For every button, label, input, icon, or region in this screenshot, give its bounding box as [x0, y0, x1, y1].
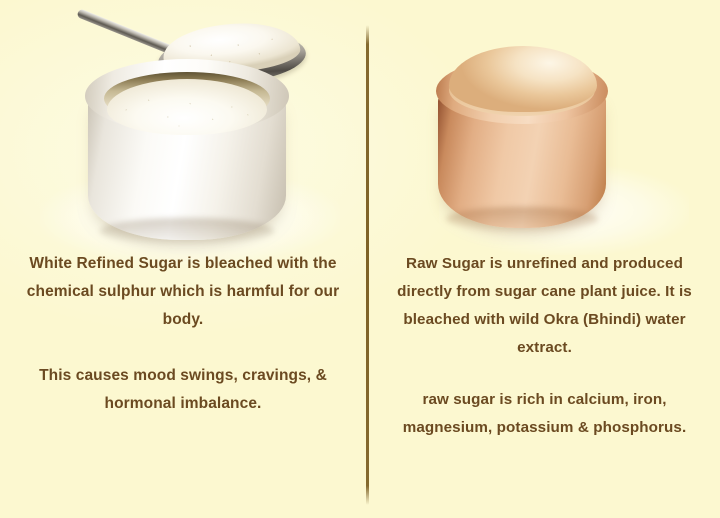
caption-paragraph: This causes mood swings, cravings, & hor…: [14, 362, 352, 418]
raw-sugar-bowl-photo: [369, 0, 720, 250]
panel-raw-sugar: Raw Sugar is unrefined and produced dire…: [369, 0, 720, 518]
raw-sugar-captions: Raw Sugar is unrefined and produced dire…: [369, 250, 720, 442]
white-sugar-surface: [107, 79, 267, 135]
caption-paragraph: raw sugar is rich in calcium, iron, magn…: [383, 386, 706, 442]
sugar-comparison-infographic: White Refined Sugar is bleached with the…: [0, 0, 720, 518]
white-sugar-captions: White Refined Sugar is bleached with the…: [0, 250, 366, 418]
panel-white-refined-sugar: White Refined Sugar is bleached with the…: [0, 0, 366, 518]
white-refined-sugar-bowl-photo: [0, 0, 366, 250]
raw-sugar-mound: [449, 46, 597, 112]
caption-paragraph: White Refined Sugar is bleached with the…: [14, 250, 352, 334]
caption-paragraph: Raw Sugar is unrefined and produced dire…: [383, 250, 706, 362]
